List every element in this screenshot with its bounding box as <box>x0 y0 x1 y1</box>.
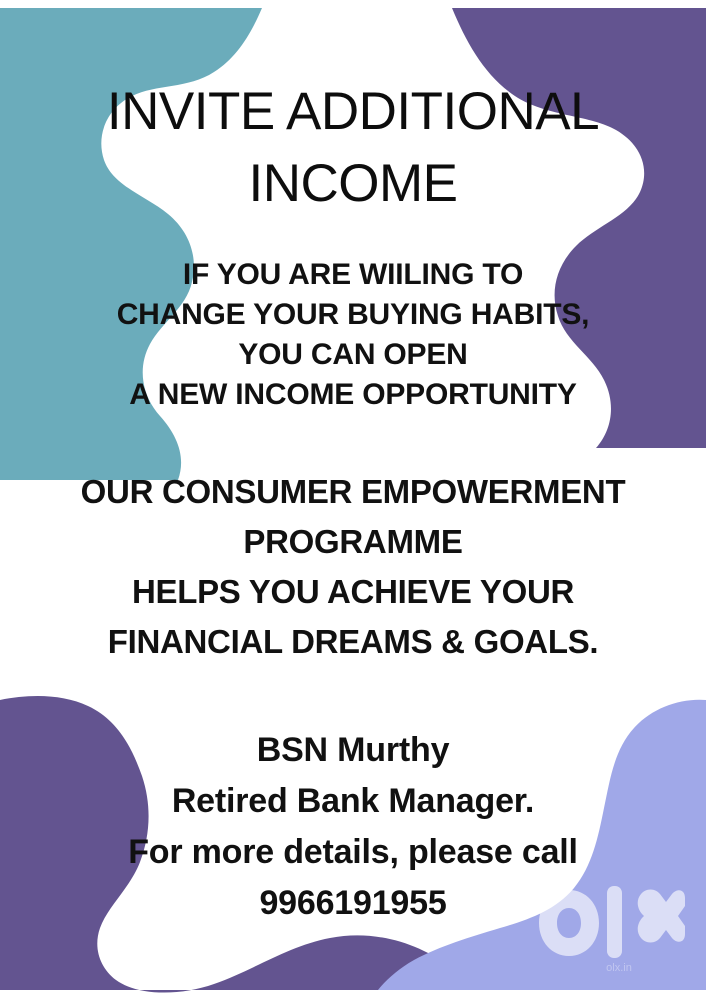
poster-canvas: INVITE ADDITIONAL INCOME IF YOU ARE WIIL… <box>0 0 706 999</box>
watermark-bar-glyph <box>607 886 622 958</box>
watermark-x-glyph <box>638 890 685 943</box>
programme-text: OUR CONSUMER EMPOWERMENT PROGRAMME HELPS… <box>33 467 673 668</box>
watermark-sublabel: olx.in <box>606 962 632 974</box>
poster-content: INVITE ADDITIONAL INCOME IF YOU ARE WIIL… <box>0 0 706 999</box>
watermark-o-glyph <box>539 890 599 956</box>
olx-watermark: olx.in <box>533 872 685 976</box>
pitch-text: IF YOU ARE WIILING TO CHANGE YOUR BUYING… <box>33 255 673 415</box>
page-title: INVITE ADDITIONAL INCOME <box>43 76 663 219</box>
